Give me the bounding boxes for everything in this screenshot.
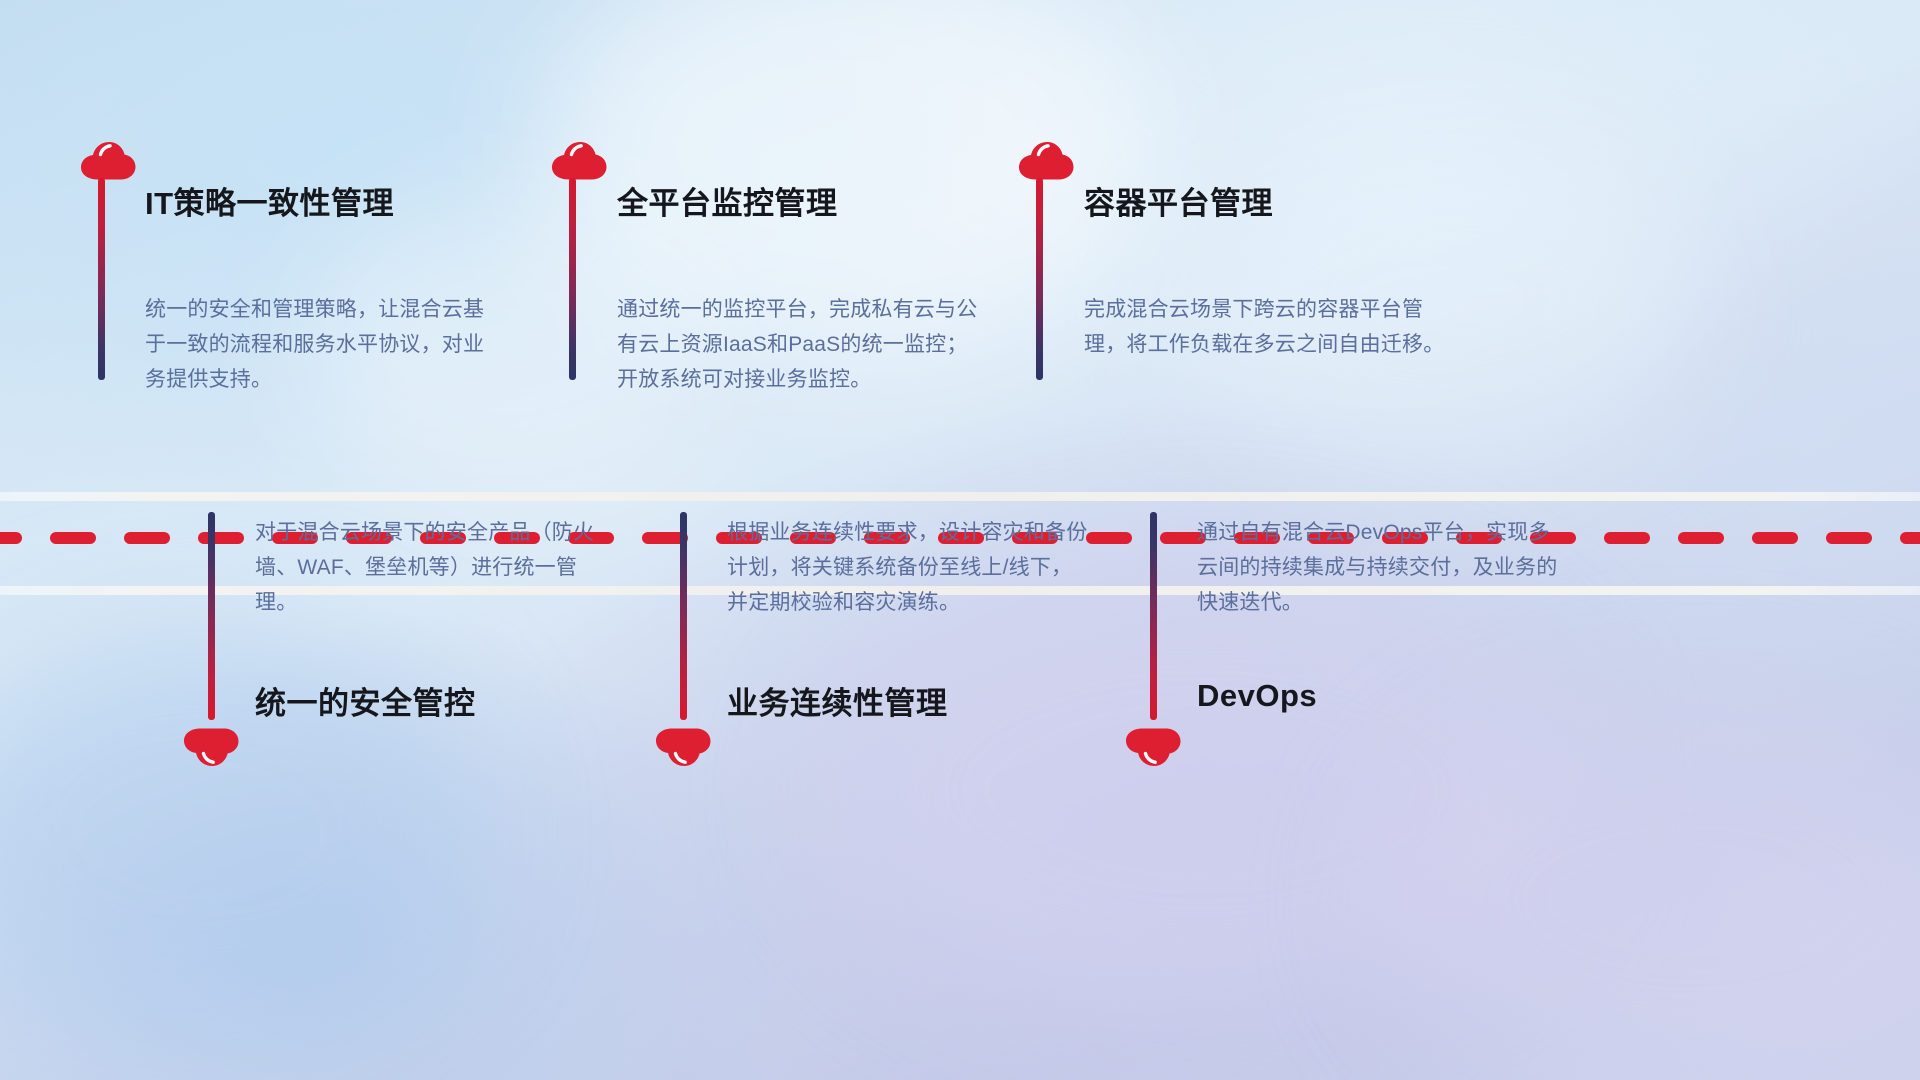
body-paragraph: 根据业务连续性要求，设计容灾和备份计划，将关键系统备份至线上/线下，并定期校验和… [727,515,1092,620]
divider-dash [1086,532,1132,544]
top-item-2-heading: 全平台监控管理 [617,178,838,223]
top-item-3-body: 完成混合云场景下跨云的容器平台管理，将工作负载在多云之间自由迁移。 [1084,292,1454,362]
pin-stem [98,178,105,380]
divider-dash [1900,532,1920,544]
body-paragraph: 完成混合云场景下跨云的容器平台管理，将工作负载在多云之间自由迁移。 [1084,292,1454,362]
bottom-item-1-body: 对于混合云场景下的安全产品（防火墙、WAF、堡垒机等）进行统一管理。 [255,515,615,620]
body-paragraph: 统一的安全和管理策略，让混合云基于一致的流程和服务水平协议，对业务提供支持。 [145,292,505,397]
bottom-item-3-heading: DevOps [1197,678,1317,714]
divider-dash [1604,532,1650,544]
pin-stem [569,178,576,380]
bottom-item-3-body: 通过自有混合云DevOps平台，实现多云间的持续集成与持续交付，及业务的快速迭代… [1197,515,1567,620]
cloud-icon [1122,727,1186,775]
pin-stem [680,512,687,720]
pin-stem [1150,512,1157,720]
divider-rule-top [0,492,1920,501]
divider-dash [50,532,96,544]
divider-dash [124,532,170,544]
divider-dash [1826,532,1872,544]
pin-stem [208,512,215,720]
body-paragraph: 对于混合云场景下的安全产品（防火墙、WAF、堡垒机等）进行统一管理。 [255,515,615,620]
cloud-icon [180,727,244,775]
top-item-2-body: 通过统一的监控平台，完成私有云与公有云上资源IaaS和PaaS的统一监控；开放系… [617,292,987,397]
top-item-3-heading: 容器平台管理 [1084,178,1273,223]
cloud-icon [652,727,716,775]
cloud-icon [548,133,612,181]
top-item-1-body: 统一的安全和管理策略，让混合云基于一致的流程和服务水平协议，对业务提供支持。 [145,292,505,397]
infographic-canvas: IT策略一致性管理 统一的安全和管理策略，让混合云基于一致的流程和服务水平协议，… [0,0,1920,1080]
bottom-item-2-body: 根据业务连续性要求，设计容灾和备份计划，将关键系统备份至线上/线下，并定期校验和… [727,515,1092,620]
background-glow [820,560,1580,1020]
cloud-icon [1015,133,1079,181]
divider-dash [1678,532,1724,544]
divider-dash [0,532,22,544]
bottom-item-2-heading: 业务连续性管理 [727,678,948,723]
cloud-icon [77,133,141,181]
body-paragraph: 通过统一的监控平台，完成私有云与公有云上资源IaaS和PaaS的统一监控；开放系… [617,292,987,397]
top-item-1-heading: IT策略一致性管理 [145,178,394,223]
divider-dash [198,532,244,544]
divider-dash [1752,532,1798,544]
body-paragraph: 通过自有混合云DevOps平台，实现多云间的持续集成与持续交付，及业务的快速迭代… [1197,515,1567,620]
pin-stem [1036,178,1043,380]
background-glow [1380,700,1920,1080]
bottom-item-1-heading: 统一的安全管控 [255,678,476,723]
